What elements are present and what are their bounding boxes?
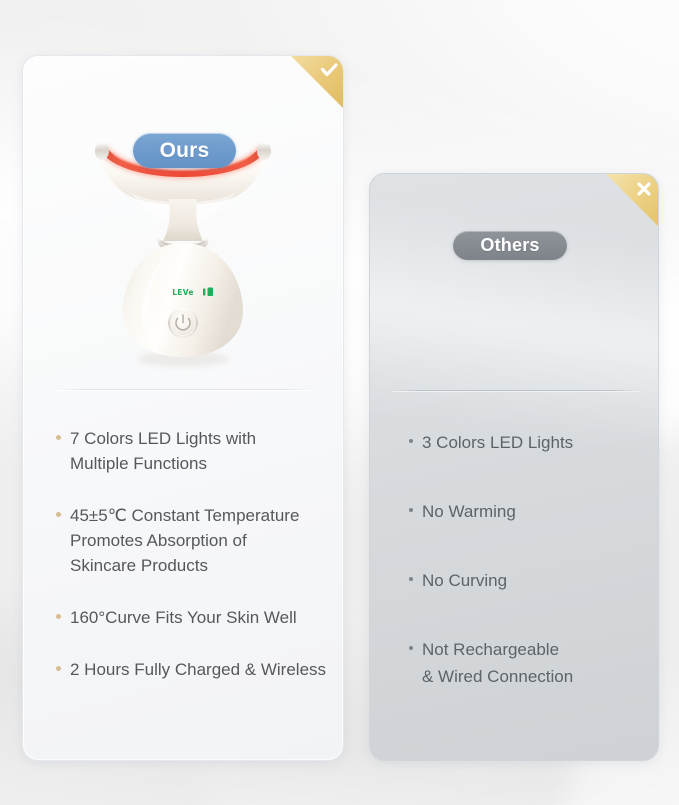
bullet-icon xyxy=(409,439,413,443)
ours-badge: Ours xyxy=(133,133,236,168)
ours-card: Ours xyxy=(22,55,344,761)
others-feature-list: 3 Colors LED Lights No Warming No Curvin… xyxy=(409,429,649,690)
list-item: 160°Curve Fits Your Skin Well xyxy=(56,605,338,630)
bullet-icon xyxy=(409,577,413,581)
others-divider xyxy=(392,390,639,391)
others-card: Others 3 Colors LED Lights No Warming No… xyxy=(369,173,659,761)
list-item: 3 Colors LED Lights xyxy=(409,429,649,456)
power-button xyxy=(168,308,198,338)
ours-feature-list: 7 Colors LED Lights with Multiple Functi… xyxy=(56,426,338,682)
check-corner-ribbon xyxy=(291,56,343,108)
device-tip-left xyxy=(95,142,109,160)
svg-text:LEVe: LEVe xyxy=(172,288,194,297)
list-item: 2 Hours Fully Charged & Wireless xyxy=(56,657,338,682)
bullet-icon xyxy=(56,614,61,619)
bullet-icon xyxy=(409,646,413,650)
bullet-icon xyxy=(56,435,61,440)
close-corner-ribbon xyxy=(606,174,658,226)
list-item: Not Rechargeable & Wired Connection xyxy=(409,636,649,690)
ours-divider xyxy=(56,389,313,390)
bullet-icon xyxy=(56,512,61,517)
bullet-icon xyxy=(56,666,61,671)
device-body xyxy=(123,243,243,357)
list-item: 7 Colors LED Lights with Multiple Functi… xyxy=(56,426,338,476)
list-item: No Curving xyxy=(409,567,649,594)
list-item: 45±5℃ Constant Temperature Promotes Abso… xyxy=(56,503,338,578)
bullet-icon xyxy=(409,508,413,512)
comparison-graphic: Ours xyxy=(0,0,679,805)
others-badge: Others xyxy=(453,231,567,260)
list-item: No Warming xyxy=(409,498,649,525)
device-tip-right xyxy=(257,142,271,160)
